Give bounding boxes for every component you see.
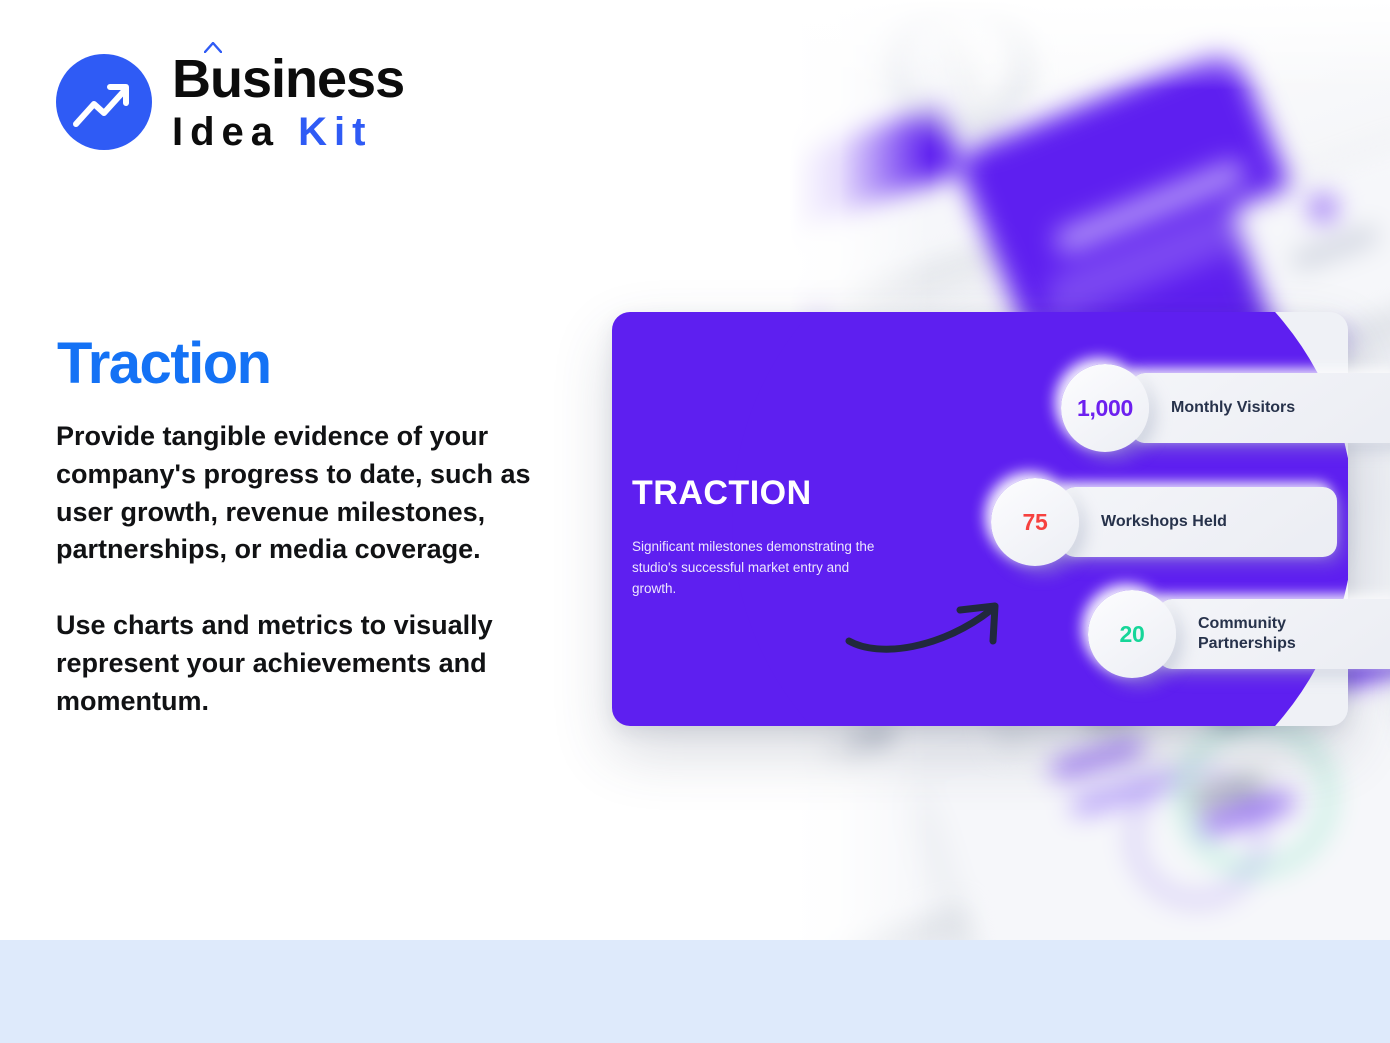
metric-value-bubble: 75 (991, 478, 1079, 566)
footer-bar (0, 940, 1390, 1043)
metric-label: Monthly Visitors (1171, 398, 1295, 418)
body-paragraph-2: Use charts and metrics to visually repre… (56, 607, 566, 720)
body-copy: Provide tangible evidence of your compan… (56, 418, 566, 721)
slide-page: Business Idea Kit Traction Provide tangi… (0, 0, 1390, 1043)
brand-name-idea: Idea (172, 110, 280, 154)
metric-label-pill: Workshops Held (1061, 487, 1337, 557)
brand-name-line2: Idea Kit (172, 112, 404, 152)
bg-dot (1310, 195, 1336, 221)
metric-row-community-partnerships[interactable]: 20 Community Partnerships (1088, 590, 1390, 678)
metrics-list: 1,000 Monthly Visitors 75 Workshops Held… (612, 312, 1348, 726)
metric-label-pill: Community Partnerships (1158, 599, 1390, 669)
metric-value: 1,000 (1077, 395, 1133, 422)
metric-value: 20 (1120, 621, 1145, 648)
circumflex-accent-icon (204, 42, 222, 53)
brand-wordmark: Business Idea Kit (172, 52, 404, 152)
left-content-column: Business Idea Kit Traction Provide tangi… (0, 0, 600, 940)
metric-value-bubble: 1,000 (1061, 364, 1149, 452)
brand-name-kit: Kit (298, 110, 372, 154)
growth-arrow-circle-icon (56, 54, 152, 150)
brand-name-line1: Business (172, 52, 404, 106)
brand-logo: Business Idea Kit (56, 52, 404, 152)
metric-label: Workshops Held (1101, 512, 1227, 532)
metric-row-monthly-visitors[interactable]: 1,000 Monthly Visitors (1061, 364, 1390, 452)
metric-row-workshops-held[interactable]: 75 Workshops Held (991, 478, 1337, 566)
photo-top-fade (790, 0, 1390, 90)
metric-label: Community Partnerships (1198, 614, 1386, 654)
metric-label-pill: Monthly Visitors (1131, 373, 1390, 443)
body-paragraph-1: Provide tangible evidence of your compan… (56, 418, 566, 569)
metric-value: 75 (1023, 509, 1048, 536)
metric-value-bubble: 20 (1088, 590, 1176, 678)
page-title: Traction (57, 335, 271, 393)
